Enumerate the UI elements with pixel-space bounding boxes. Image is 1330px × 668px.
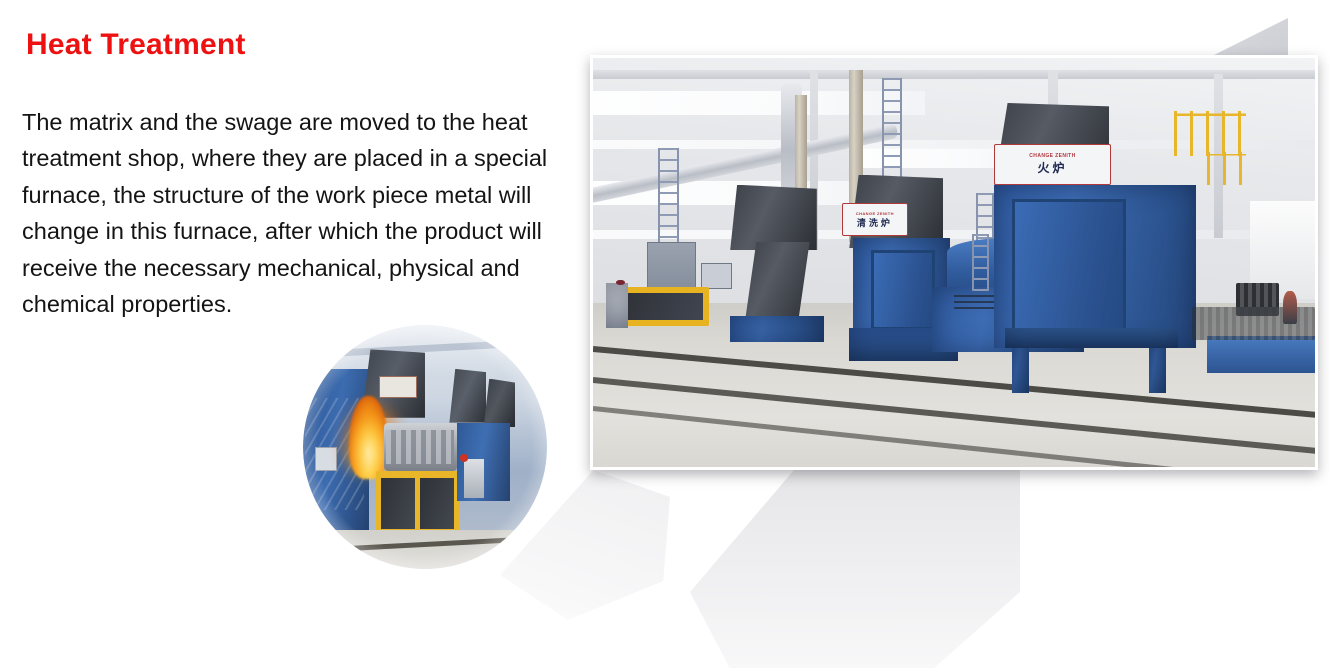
heat-treatment-shop-photo: CHANGE ZENITH 清洗炉 CHANGE ZENITH 火炉 xyxy=(590,55,1318,470)
furnace-base-1 xyxy=(730,316,824,343)
ceiling-beam-horizontal xyxy=(593,70,1315,79)
furnace-door-3 xyxy=(1012,199,1126,332)
control-cabinet-yellow xyxy=(618,287,708,326)
circle-red-light xyxy=(460,454,467,461)
cabinet-base-left xyxy=(606,283,628,328)
furnace-hood-1 xyxy=(730,185,817,250)
furnace-legs-3b xyxy=(1149,344,1166,393)
safety-railing xyxy=(1174,111,1246,156)
circle-photo-scene xyxy=(303,325,547,569)
wall-panel-ac xyxy=(701,263,732,290)
furnace-door-2 xyxy=(871,250,935,330)
wall-window-band-1 xyxy=(593,91,925,116)
safety-railing-lower xyxy=(1207,152,1247,185)
furnace-cart-3 xyxy=(1005,328,1178,348)
circle-furnace-sign xyxy=(379,376,418,398)
decorative-polygon-bottom xyxy=(690,468,1020,668)
sign-text-3: 火炉 xyxy=(1037,159,1067,176)
cabinet-red-light xyxy=(616,280,625,285)
page-title: Heat Treatment xyxy=(26,28,246,62)
workpiece-charge-detail xyxy=(386,430,454,464)
circle-furnace-hood-right-1 xyxy=(449,369,486,423)
furnace-flame-photo xyxy=(303,325,547,569)
photo-scene: CHANGE ZENITH 清洗炉 CHANGE ZENITH 火炉 xyxy=(593,58,1315,467)
furnace-legs-3 xyxy=(1012,344,1029,393)
circle-yellow-cabinet-panel-right xyxy=(420,478,454,529)
furnace-sign-3: CHANGE ZENITH 火炉 xyxy=(994,144,1112,185)
tank-ladder xyxy=(972,234,989,291)
wall-seam-2 xyxy=(593,230,1315,239)
furnace-sign-2: CHANGE ZENITH 清洗炉 xyxy=(842,203,908,236)
sign-text-2: 清洗炉 xyxy=(857,216,893,229)
circle-panel-left xyxy=(315,447,337,471)
circle-control-box-right xyxy=(464,459,484,498)
circle-yellow-cabinet-panel-left xyxy=(381,478,415,529)
roller-conveyor xyxy=(1207,336,1315,373)
description-paragraph: The matrix and the swage are moved to th… xyxy=(22,104,562,323)
worker-figure xyxy=(1283,291,1297,324)
